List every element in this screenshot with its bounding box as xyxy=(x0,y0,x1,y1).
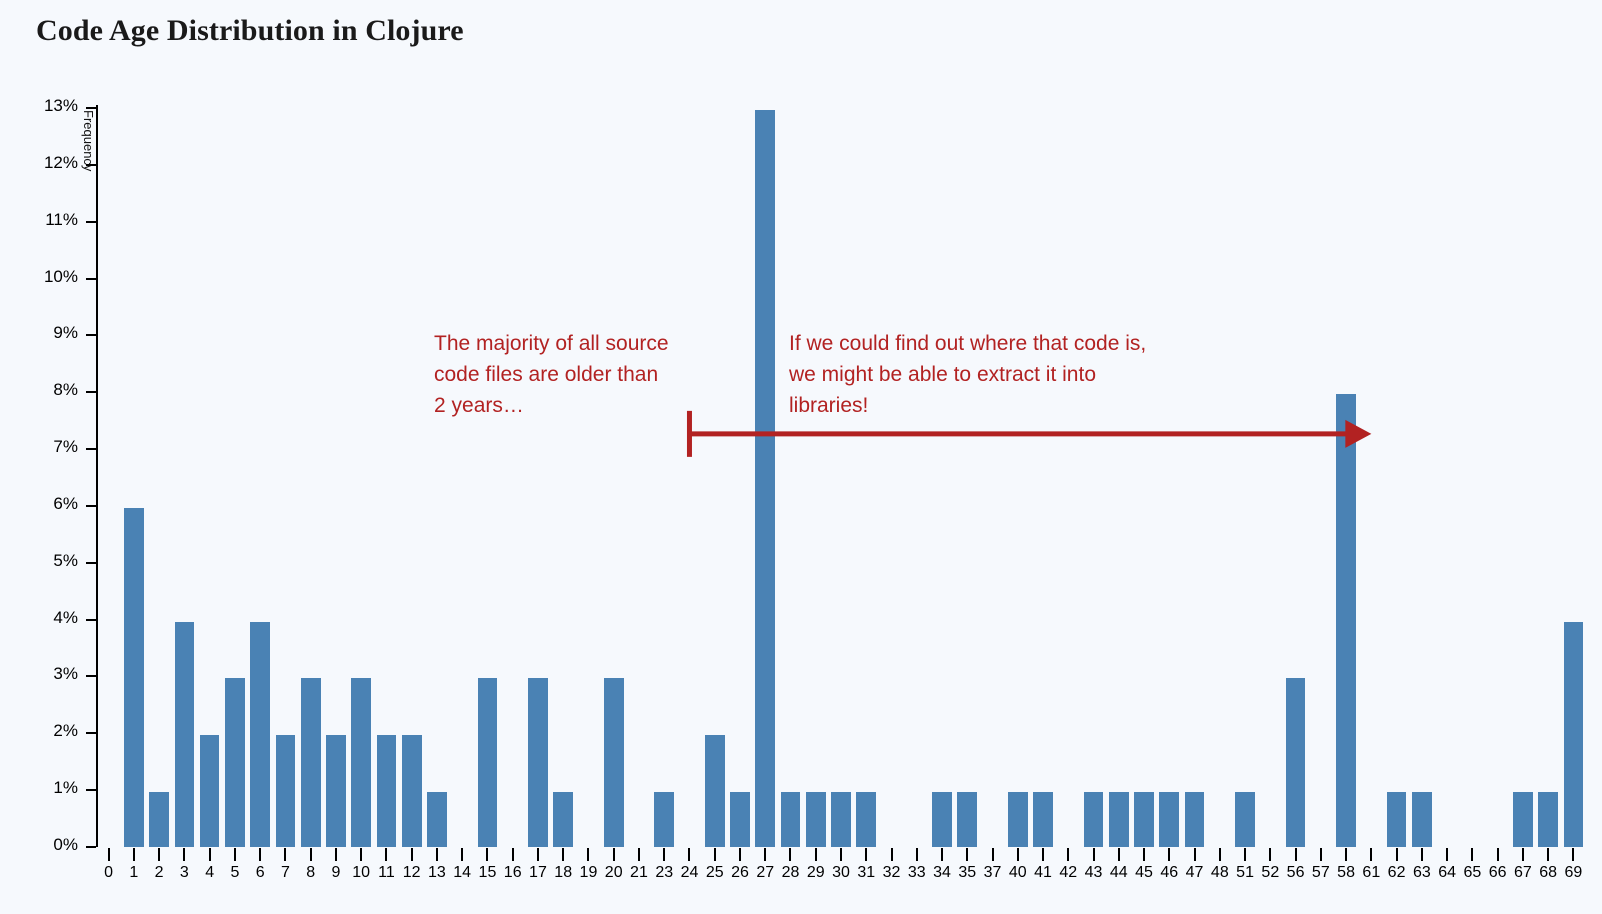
x-axis-tick-mark xyxy=(739,848,741,861)
y-axis-tick-mark xyxy=(86,846,96,848)
x-axis-tick-label: 30 xyxy=(832,864,850,882)
x-axis-tick-mark xyxy=(688,848,690,861)
x-axis-tick-label: 13 xyxy=(428,864,446,882)
x-axis-tick-label: 44 xyxy=(1110,864,1128,882)
x-axis-tick-mark xyxy=(1067,848,1069,861)
x-axis-tick-label: 25 xyxy=(706,864,724,882)
x-axis-tick-label: 14 xyxy=(453,864,471,882)
y-axis-tick-mark xyxy=(86,505,96,507)
y-axis-tick-label: 7% xyxy=(53,437,78,457)
x-axis-tick-mark xyxy=(613,848,615,861)
y-axis-tick: 2% xyxy=(0,732,96,733)
x-axis-tick-label: 69 xyxy=(1564,864,1582,882)
x-axis-tick-mark xyxy=(512,848,514,861)
x-axis-tick-label: 47 xyxy=(1186,864,1204,882)
x-axis-tick-mark xyxy=(1345,848,1347,861)
bar-47[interactable] xyxy=(1184,791,1206,848)
y-axis-tick: 5% xyxy=(0,562,96,563)
y-axis-tick: 12% xyxy=(0,164,96,165)
bar-18[interactable] xyxy=(552,791,574,848)
bar-4[interactable] xyxy=(199,734,221,848)
bar-17[interactable] xyxy=(527,677,549,848)
x-axis-tick-mark xyxy=(714,848,716,861)
x-axis-tick-mark xyxy=(663,848,665,861)
x-axis-tick-label: 10 xyxy=(352,864,370,882)
x-axis-tick-mark xyxy=(1522,848,1524,861)
bar-3[interactable] xyxy=(174,621,196,848)
x-axis-tick-mark xyxy=(385,848,387,861)
x-axis-tick-label: 57 xyxy=(1312,864,1330,882)
y-axis-tick-mark xyxy=(86,675,96,677)
bar-23[interactable] xyxy=(653,791,675,848)
y-axis-tick-label: 9% xyxy=(53,323,78,343)
x-axis-tick-label: 0 xyxy=(104,864,113,882)
y-axis-tick-label: 11% xyxy=(45,210,78,230)
y-axis-tick-mark xyxy=(86,391,96,393)
x-axis-tick-label: 26 xyxy=(731,864,749,882)
x-axis-tick-label: 8 xyxy=(306,864,315,882)
x-axis-tick-label: 37 xyxy=(984,864,1002,882)
y-axis-tick-mark xyxy=(86,448,96,450)
y-axis-tick: 11% xyxy=(0,221,96,222)
x-axis-tick-label: 5 xyxy=(230,864,239,882)
x-axis-tick-mark xyxy=(865,848,867,861)
x-axis-tick-label: 65 xyxy=(1463,864,1481,882)
x-axis-tick-mark xyxy=(1446,848,1448,861)
x-axis-tick-label: 63 xyxy=(1413,864,1431,882)
x-axis-tick-label: 21 xyxy=(630,864,648,882)
x-axis-tick-label: 6 xyxy=(256,864,265,882)
bar-13[interactable] xyxy=(426,791,448,848)
y-axis-tick-label: 8% xyxy=(53,380,78,400)
x-axis-tick-mark xyxy=(789,848,791,861)
y-axis-tick-label: 5% xyxy=(53,551,78,571)
bar-43[interactable] xyxy=(1083,791,1105,848)
bar-9[interactable] xyxy=(325,734,347,848)
y-axis-tick: 1% xyxy=(0,789,96,790)
bar-11[interactable] xyxy=(376,734,398,848)
x-axis-tick-mark xyxy=(158,848,160,861)
y-axis-tick-mark xyxy=(86,789,96,791)
x-axis-tick-mark xyxy=(1017,848,1019,861)
y-axis-tick-label: 6% xyxy=(53,494,78,514)
x-axis-tick-label: 52 xyxy=(1261,864,1279,882)
chart-title: Code Age Distribution in Clojure xyxy=(36,14,464,48)
x-axis-tick-mark xyxy=(284,848,286,861)
y-axis-tick-mark xyxy=(86,107,96,109)
y-axis-tick-mark xyxy=(86,619,96,621)
y-axis-tick-label: 3% xyxy=(53,664,78,684)
y-axis-tick: 3% xyxy=(0,675,96,676)
x-axis-tick-mark xyxy=(1396,848,1398,861)
y-axis-tick-label: 2% xyxy=(53,721,78,741)
x-axis-tick-label: 41 xyxy=(1034,864,1052,882)
bar-35[interactable] xyxy=(956,791,978,848)
x-axis-tick-label: 48 xyxy=(1211,864,1229,882)
y-axis-tick-mark xyxy=(86,164,96,166)
x-axis-tick-label: 33 xyxy=(908,864,926,882)
bar-27[interactable] xyxy=(754,109,776,848)
x-axis-tick-label: 43 xyxy=(1085,864,1103,882)
x-axis-tick-mark xyxy=(1042,848,1044,861)
x-axis-tick-mark xyxy=(537,848,539,861)
x-axis-tick-label: 68 xyxy=(1539,864,1557,882)
x-axis-tick-mark xyxy=(1572,848,1574,861)
x-axis-tick-mark xyxy=(764,848,766,861)
bar-28[interactable] xyxy=(780,791,802,848)
bar-8[interactable] xyxy=(300,677,322,848)
bar-45[interactable] xyxy=(1133,791,1155,848)
annotation-majority-older: The majority of all source code files ar… xyxy=(434,328,744,421)
x-axis-tick-label: 1 xyxy=(129,864,138,882)
x-axis-tick-mark xyxy=(941,848,943,861)
x-axis-tick-mark xyxy=(815,848,817,861)
x-axis-tick-label: 45 xyxy=(1135,864,1153,882)
y-axis-tick-label: 0% xyxy=(53,835,78,855)
bar-51[interactable] xyxy=(1234,791,1256,848)
x-axis-tick-mark xyxy=(1295,848,1297,861)
bar-44[interactable] xyxy=(1108,791,1130,848)
x-axis-tick-mark xyxy=(310,848,312,861)
y-axis-tick: 7% xyxy=(0,448,96,449)
x-axis-tick-label: 17 xyxy=(529,864,547,882)
x-axis-tick-label: 12 xyxy=(403,864,421,882)
x-axis-tick-label: 28 xyxy=(782,864,800,882)
bar-25[interactable] xyxy=(704,734,726,848)
y-axis-tick-mark xyxy=(86,732,96,734)
x-axis-tick-mark xyxy=(411,848,413,861)
x-axis-tick-label: 51 xyxy=(1236,864,1254,882)
bar-2[interactable] xyxy=(148,791,170,848)
x-axis-tick-mark xyxy=(360,848,362,861)
x-axis-tick-mark xyxy=(1219,848,1221,861)
x-axis-tick-label: 67 xyxy=(1514,864,1532,882)
x-axis-tick-label: 11 xyxy=(378,864,395,882)
bar-15[interactable] xyxy=(477,677,499,848)
bar-34[interactable] xyxy=(931,791,953,848)
x-axis-tick-label: 62 xyxy=(1388,864,1406,882)
bar-7[interactable] xyxy=(275,734,297,848)
y-axis-label: Frequency xyxy=(80,104,96,194)
x-axis-tick-mark xyxy=(461,848,463,861)
bar-20[interactable] xyxy=(603,677,625,848)
x-axis-tick-mark xyxy=(1143,848,1145,861)
bar-26[interactable] xyxy=(729,791,751,848)
x-axis-tick-mark xyxy=(335,848,337,861)
y-axis-tick: 13% xyxy=(0,107,96,108)
bar-46[interactable] xyxy=(1158,791,1180,848)
y-axis-tick-label: 12% xyxy=(44,153,78,173)
bar-6[interactable] xyxy=(249,621,271,848)
x-axis-tick-mark xyxy=(1093,848,1095,861)
bar-1[interactable] xyxy=(123,507,145,848)
bar-12[interactable] xyxy=(401,734,423,848)
y-axis-tick-label: 10% xyxy=(44,267,78,287)
x-axis-tick-label: 23 xyxy=(655,864,673,882)
y-axis-tick-mark xyxy=(86,562,96,564)
y-axis-tick-mark xyxy=(86,334,96,336)
x-axis-tick-label: 29 xyxy=(807,864,825,882)
x-axis: 0123456789101112131415161718192021232425… xyxy=(96,848,1586,908)
y-axis-tick-label: 4% xyxy=(53,608,78,628)
x-axis-tick-label: 19 xyxy=(580,864,598,882)
x-axis-tick-mark xyxy=(436,848,438,861)
x-axis-tick-mark xyxy=(1168,848,1170,861)
bar-40[interactable] xyxy=(1007,791,1029,848)
x-axis-tick-mark xyxy=(1244,848,1246,861)
chart-container: Code Age Distribution in Clojure Frequen… xyxy=(0,0,1602,914)
x-axis-tick-mark xyxy=(562,848,564,861)
bar-41[interactable] xyxy=(1032,791,1054,848)
bar-58[interactable] xyxy=(1335,393,1357,848)
bar-10[interactable] xyxy=(350,677,372,848)
x-axis-tick-mark xyxy=(259,848,261,861)
x-axis-tick-label: 34 xyxy=(933,864,951,882)
x-axis-tick-mark xyxy=(234,848,236,861)
x-axis-tick-mark xyxy=(1118,848,1120,861)
x-axis-tick-mark xyxy=(1320,848,1322,861)
y-axis-tick: 9% xyxy=(0,334,96,335)
x-axis-tick-mark xyxy=(209,848,211,861)
bar-62[interactable] xyxy=(1386,791,1408,848)
x-axis-tick-mark xyxy=(108,848,110,861)
y-axis-tick: 6% xyxy=(0,505,96,506)
bar-69[interactable] xyxy=(1563,621,1585,848)
x-axis-tick-label: 35 xyxy=(958,864,976,882)
x-axis-tick-mark xyxy=(992,848,994,861)
x-axis-tick-label: 66 xyxy=(1489,864,1507,882)
x-axis-tick-label: 64 xyxy=(1438,864,1456,882)
x-axis-tick-label: 58 xyxy=(1337,864,1355,882)
x-axis-tick-label: 2 xyxy=(155,864,164,882)
bar-31[interactable] xyxy=(855,791,877,848)
x-axis-tick-label: 16 xyxy=(504,864,522,882)
x-axis-tick-mark xyxy=(1269,848,1271,861)
x-axis-tick-mark xyxy=(1547,848,1549,861)
y-axis-tick-label: 1% xyxy=(53,778,78,798)
x-axis-tick-label: 56 xyxy=(1287,864,1305,882)
bar-67[interactable] xyxy=(1512,791,1534,848)
x-axis-tick-mark xyxy=(638,848,640,861)
x-axis-tick-label: 31 xyxy=(857,864,875,882)
x-axis-tick-mark xyxy=(891,848,893,861)
x-axis-tick-mark xyxy=(1370,848,1372,861)
x-axis-tick-mark xyxy=(587,848,589,861)
x-axis-tick-label: 61 xyxy=(1362,864,1380,882)
y-axis-tick: 8% xyxy=(0,391,96,392)
x-axis-tick-label: 18 xyxy=(554,864,572,882)
annotation-extract-libraries: If we could find out where that code is,… xyxy=(789,328,1259,421)
x-axis-tick-label: 7 xyxy=(281,864,290,882)
x-axis-tick-mark xyxy=(1421,848,1423,861)
x-axis-tick-mark xyxy=(486,848,488,861)
x-axis-tick-label: 32 xyxy=(883,864,901,882)
y-axis-tick: 10% xyxy=(0,278,96,279)
x-axis-tick-label: 24 xyxy=(681,864,699,882)
bar-29[interactable] xyxy=(805,791,827,848)
x-axis-tick-mark xyxy=(1471,848,1473,861)
x-axis-tick-label: 4 xyxy=(205,864,214,882)
x-axis-tick-mark xyxy=(1497,848,1499,861)
x-axis-tick-mark xyxy=(966,848,968,861)
x-axis-tick-label: 15 xyxy=(479,864,497,882)
y-axis-tick: 0% xyxy=(0,846,96,847)
x-axis-tick-label: 3 xyxy=(180,864,189,882)
x-axis-tick-mark xyxy=(1194,848,1196,861)
x-axis-tick-mark xyxy=(183,848,185,861)
x-axis-tick-mark xyxy=(840,848,842,861)
bar-56[interactable] xyxy=(1285,677,1307,848)
x-axis-tick-label: 42 xyxy=(1059,864,1077,882)
bar-5[interactable] xyxy=(224,677,246,848)
x-axis-tick-label: 40 xyxy=(1009,864,1027,882)
x-axis-tick-label: 20 xyxy=(605,864,623,882)
x-axis-tick-label: 46 xyxy=(1160,864,1178,882)
y-axis-tick: 4% xyxy=(0,619,96,620)
bar-68[interactable] xyxy=(1537,791,1559,848)
bar-30[interactable] xyxy=(830,791,852,848)
plot-area xyxy=(96,100,1586,848)
x-axis-tick-mark xyxy=(133,848,135,861)
x-axis-tick-mark xyxy=(916,848,918,861)
bar-63[interactable] xyxy=(1411,791,1433,848)
y-axis-tick-mark xyxy=(86,278,96,280)
x-axis-tick-label: 9 xyxy=(331,864,340,882)
x-axis-tick-label: 27 xyxy=(756,864,774,882)
y-axis-tick-mark xyxy=(86,221,96,223)
y-axis-tick-label: 13% xyxy=(44,96,78,116)
